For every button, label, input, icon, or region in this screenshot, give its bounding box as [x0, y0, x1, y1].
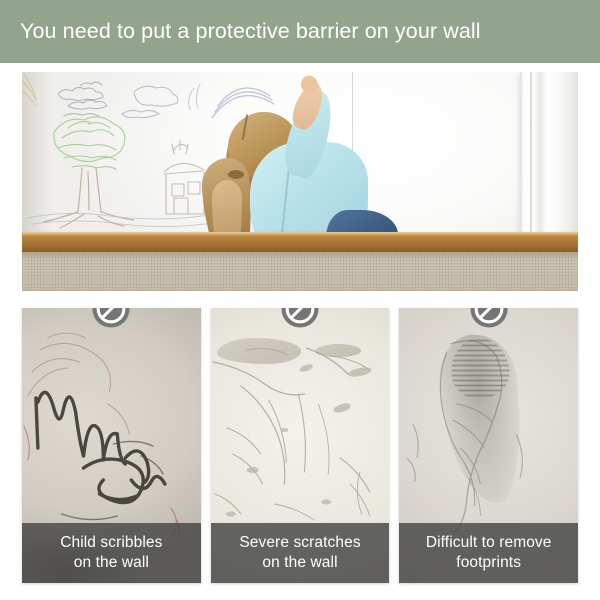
hero-photo-scene: [22, 72, 578, 291]
door-molding-edge: [530, 72, 532, 250]
ponytail-tie: [228, 170, 244, 179]
caption-line-1: Difficult to remove: [426, 534, 552, 551]
prohibition-icon: [281, 308, 319, 328]
problem-panel-footprints: Difficult to remove footprints: [399, 308, 578, 583]
panel-caption-text: Severe scratches on the wall: [235, 533, 364, 573]
carpet-shadow: [22, 252, 578, 260]
prohibition-icon: [92, 308, 130, 328]
hero-image: [22, 72, 578, 291]
baseboard-highlight: [22, 232, 578, 236]
header-banner: You need to put a protective barrier on …: [0, 0, 600, 63]
caption-line-1: Child scribbles: [60, 534, 162, 551]
problem-panels: Child scribbles on the wall: [22, 308, 578, 583]
panel-caption: Difficult to remove footprints: [399, 523, 578, 583]
caption-line-2: on the wall: [74, 554, 149, 571]
panel-caption-text: Difficult to remove footprints: [422, 533, 556, 573]
panel-caption-text: Child scribbles on the wall: [56, 533, 166, 573]
caption-line-2: on the wall: [262, 554, 337, 571]
panel-caption: Child scribbles on the wall: [22, 523, 201, 583]
page-title: You need to put a protective barrier on …: [0, 19, 481, 44]
panel-caption: Severe scratches on the wall: [211, 523, 390, 583]
caption-line-2: footprints: [456, 554, 521, 571]
prohibition-icon: [470, 308, 508, 328]
door-molding: [520, 72, 578, 250]
problem-panel-severe-scratches: Severe scratches on the wall: [211, 308, 390, 583]
problem-panel-child-scribbles: Child scribbles on the wall: [22, 308, 201, 583]
caption-line-1: Severe scratches: [239, 534, 360, 551]
